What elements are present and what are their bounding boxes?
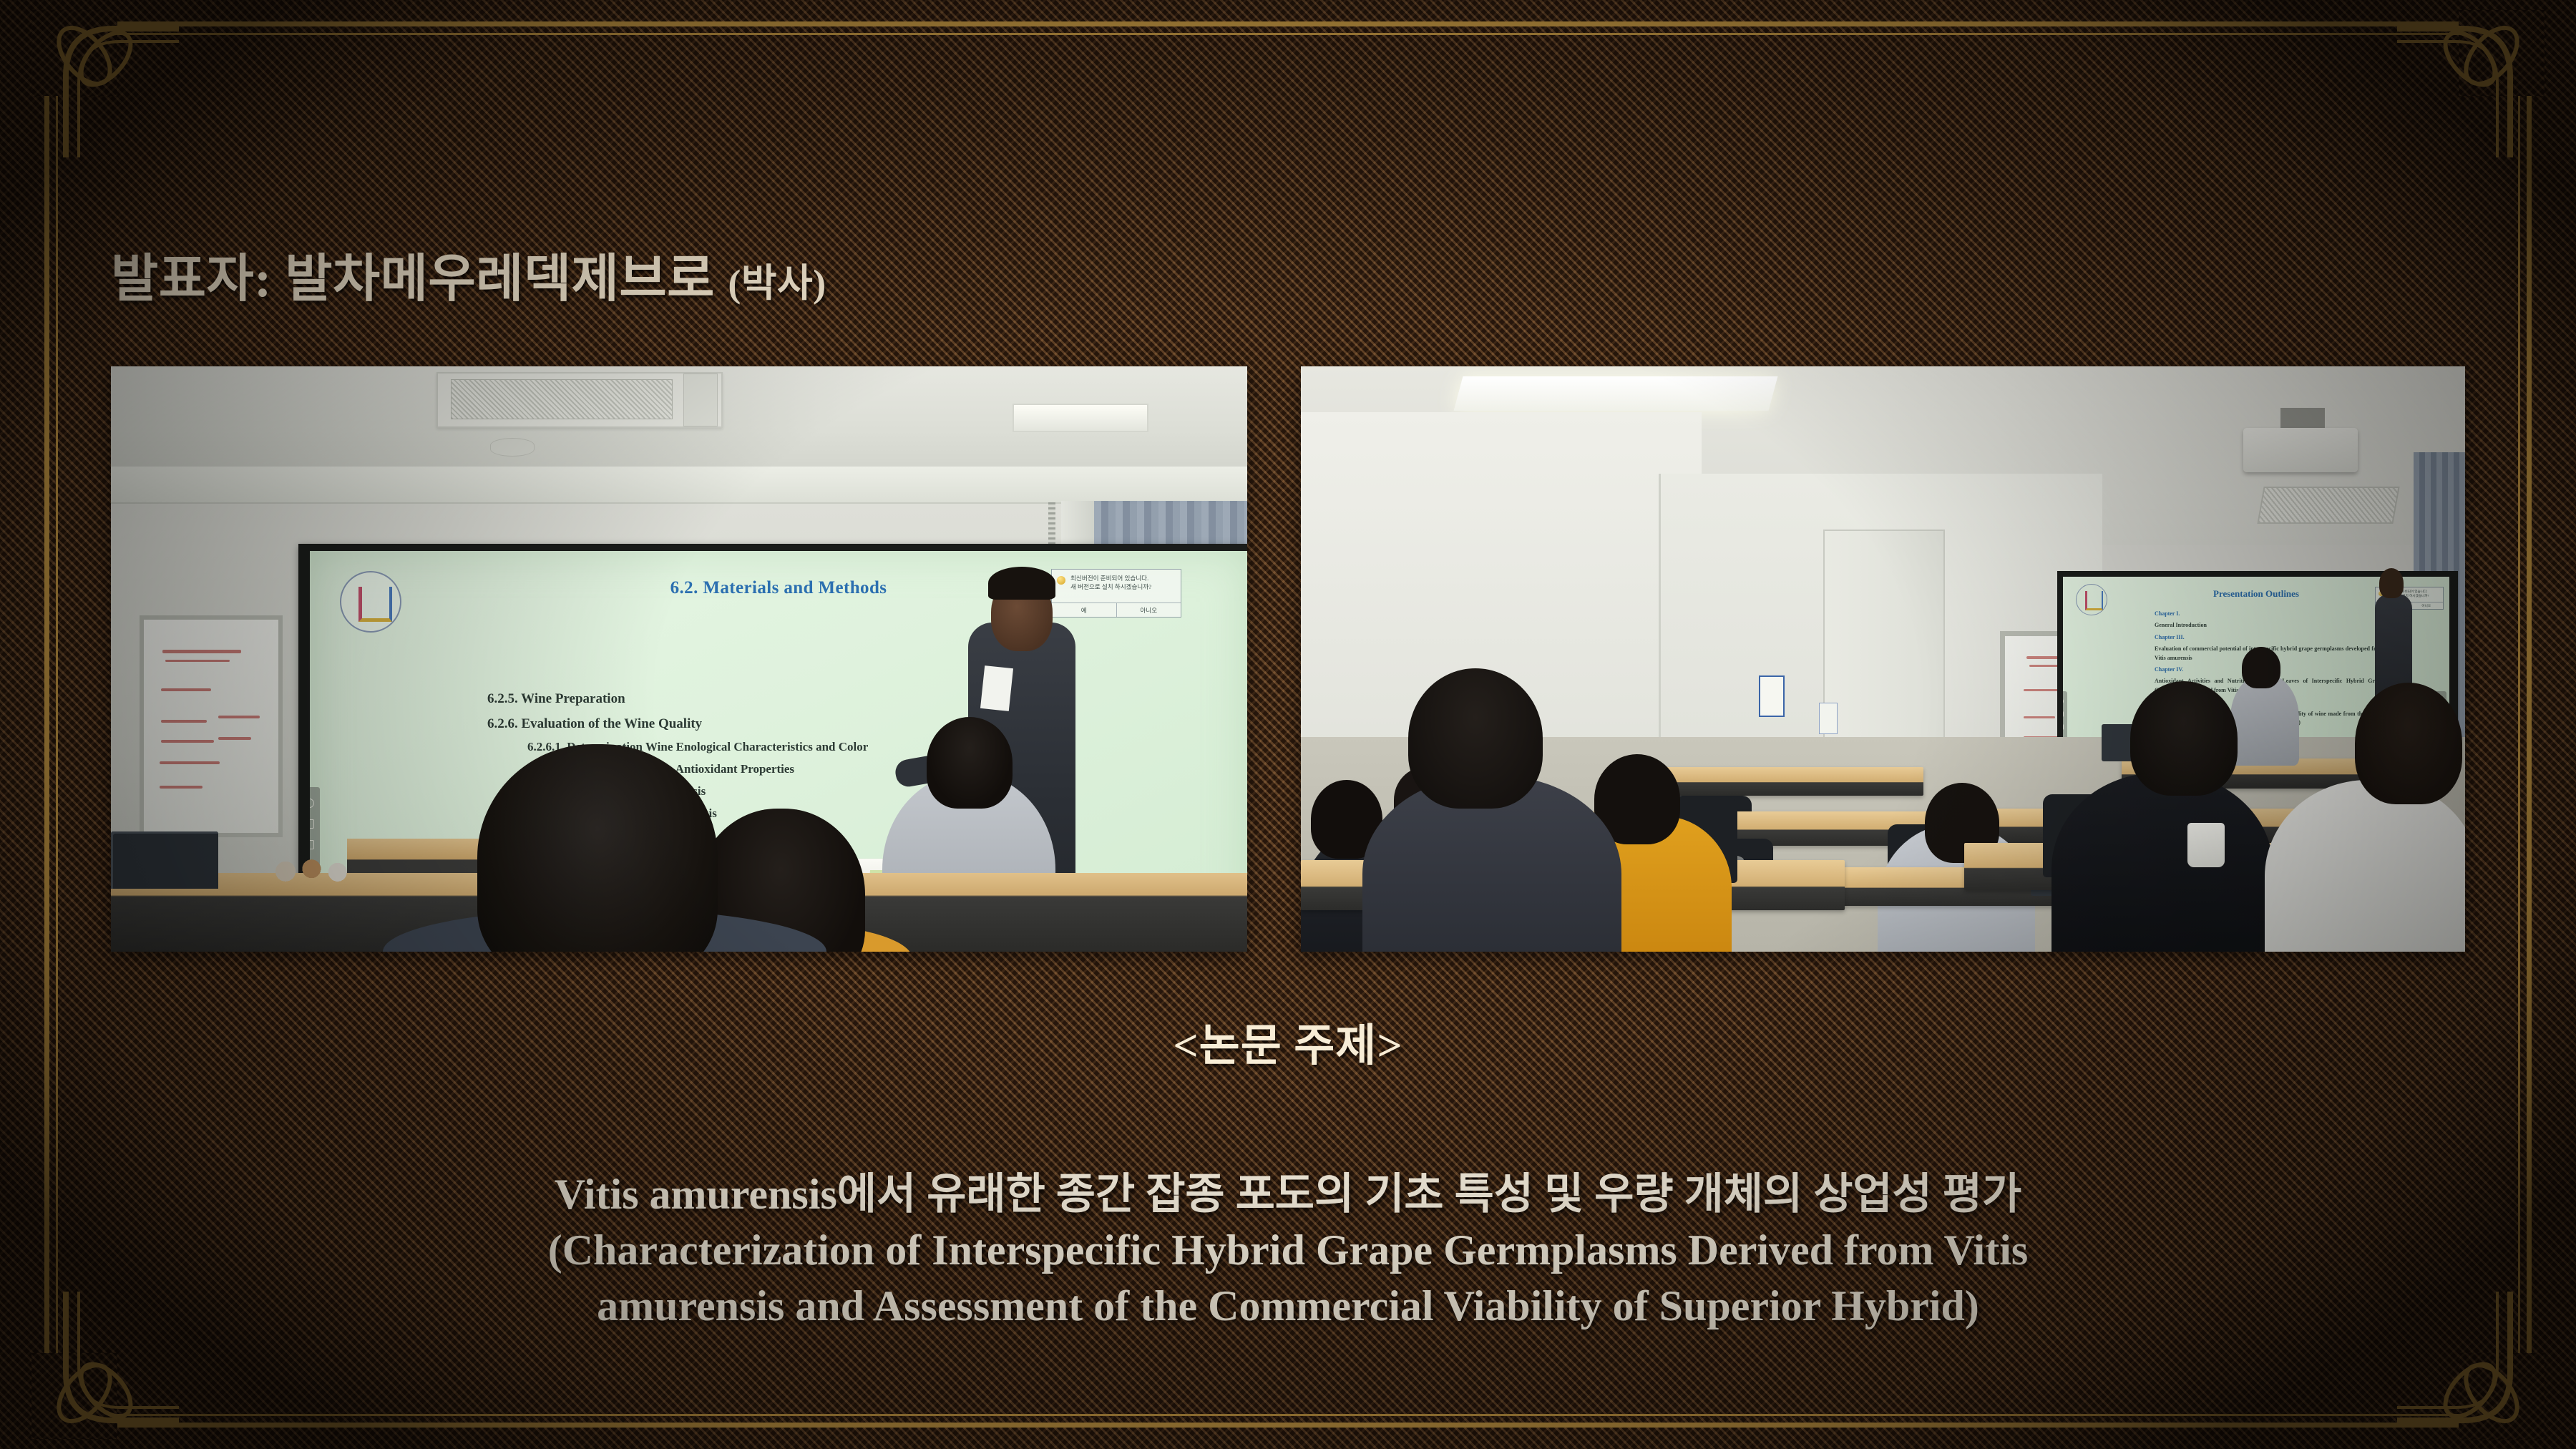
presenter-shirt-collar xyxy=(980,665,1013,711)
thesis-section-label: <논문 주제> xyxy=(0,1009,2576,1073)
dialog-buttons: 예 아니오 xyxy=(1052,602,1181,617)
update-dialog[interactable]: 최신버전이 준비되어 있습니다. 새 버전으로 설치 하시겠습니까? 예 아니오 xyxy=(1051,569,1181,618)
standing-presenter-head xyxy=(2379,568,2404,598)
slide-item: 6.2.5. Wine Preparation xyxy=(487,687,1226,712)
wall-notice-poster xyxy=(1759,675,1785,717)
thesis-title-english-line-2: amurensis and Assessment of the Commerci… xyxy=(79,1278,2497,1334)
grid-icon[interactable] xyxy=(310,840,314,849)
presenter-hair xyxy=(988,567,1055,600)
presenter-name: 발표자: 발차메우레덱제브로 xyxy=(111,250,715,308)
corner-mask-top-left xyxy=(31,10,117,96)
thesis-title-block: Vitis amurensis에서 유래한 종간 잡종 포도의 기초 특성 및 … xyxy=(79,1166,2497,1334)
projector-mount xyxy=(2280,408,2325,429)
dialog-line-2: 새 버전으로 설치 하시겠습니까? xyxy=(1058,582,1175,591)
foreground-person-dark-suit-head xyxy=(1408,668,1543,809)
snacks-on-desk xyxy=(267,857,360,883)
pen-icon[interactable] xyxy=(310,819,314,829)
dialog-no-button[interactable]: 아니오 xyxy=(1117,603,1181,617)
photo-left-presenter: 6.2. Materials and Methods 6.2.5. Wine P… xyxy=(111,366,1247,952)
coffee-mug xyxy=(2187,823,2225,867)
whiteboard xyxy=(140,615,283,837)
foreground-person-black-jacket-body xyxy=(2051,773,2273,952)
air-conditioner-grille-icon xyxy=(2257,487,2399,524)
photo-right-classroom: Presentation Outlines Chapter I. General… xyxy=(1301,366,2465,952)
presenter-heading: 발표자: 발차메우레덱제브로 (박사) xyxy=(111,236,826,311)
warning-icon xyxy=(1057,576,1065,585)
ceiling-light xyxy=(1454,376,1778,411)
wall-switch-panel xyxy=(1819,703,1838,734)
thesis-title-korean: Vitis amurensis에서 유래한 종간 잡종 포도의 기초 특성 및 … xyxy=(79,1166,2497,1222)
seated-attendee-head xyxy=(927,717,1013,809)
foreground-person-black-jacket-head xyxy=(2130,681,2238,796)
dialog-line-1: 최신버전이 준비되어 있습니다. xyxy=(1058,574,1175,582)
thesis-title-english-line-1: (Characterization of Interspecific Hybri… xyxy=(79,1222,2497,1278)
power-icon[interactable] xyxy=(310,799,314,808)
chapter-text: General Introduction xyxy=(2155,621,2384,630)
chapter-number: Chapter I. xyxy=(2155,610,2384,618)
ceiling-light xyxy=(1013,404,1148,432)
photo-row: 6.2. Materials and Methods 6.2.5. Wine P… xyxy=(111,366,2465,952)
corner-mask-bottom-right xyxy=(2459,1353,2545,1439)
dialog-no-button[interactable]: 아니오 xyxy=(2410,602,2444,609)
corner-mask-top-right xyxy=(2459,10,2545,96)
seated-person-head xyxy=(2242,647,2280,688)
ceiling-projector xyxy=(2243,428,2358,472)
foreground-person-1-head xyxy=(477,744,718,952)
presenter-degree: (박사) xyxy=(728,262,826,305)
laptop xyxy=(111,831,218,889)
ceiling-beam xyxy=(111,467,1247,504)
dialog-yes-button[interactable]: 예 xyxy=(1052,603,1117,617)
foreground-person-white-cardigan-head xyxy=(2355,683,2462,804)
smoke-detector-icon xyxy=(490,438,535,457)
corner-mask-bottom-left xyxy=(31,1353,117,1439)
chapter-number: Chapter III. xyxy=(2155,633,2384,642)
grid-icon[interactable] xyxy=(2063,724,2064,730)
power-icon[interactable] xyxy=(2063,698,2064,704)
pen-icon[interactable] xyxy=(2063,711,2064,717)
slide-canvas: 발표자: 발차메우레덱제브로 (박사) xyxy=(0,0,2576,1449)
air-vent-icon xyxy=(683,374,718,426)
slide-item: 6.2.6. Evaluation of the Wine Quality xyxy=(487,712,1226,737)
air-conditioner-grille-icon xyxy=(451,379,673,419)
